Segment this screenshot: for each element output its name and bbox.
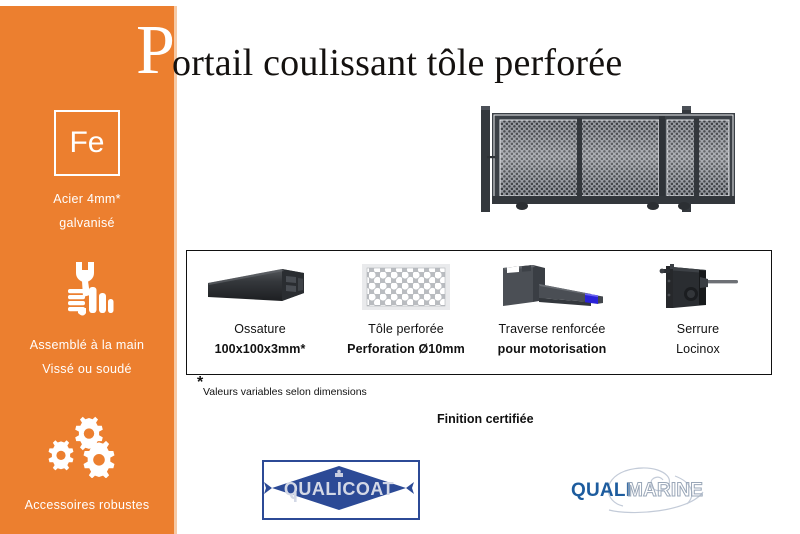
title-text: ortail coulissant tôle perforée (172, 40, 622, 86)
lock-icon (648, 257, 748, 317)
feature-item-lock-title: Serrure (677, 321, 719, 338)
steel-frame-profile-icon (204, 257, 316, 317)
feature-item-frame: Ossature 100x100x3mm* (187, 251, 333, 374)
sidebar-item-steel: Fe Acier 4mm* galvanisé (0, 110, 174, 236)
feature-item-sheet-spec: Perforation Ø10mm (347, 341, 465, 358)
footnote-text: Valeurs variables selon dimensions (203, 386, 367, 398)
qualimarine-wordmark-quali: QUALI (571, 480, 631, 501)
sidebar-item-handmade-line2: Vissé ou soudé (0, 358, 174, 382)
feature-item-frame-spec: 100x100x3mm* (215, 341, 306, 358)
features-panel: Ossature 100x100x3mm* (186, 250, 772, 375)
title-drop-cap: P (136, 20, 175, 82)
feature-item-crossbeam-spec: pour motorisation (498, 341, 607, 358)
sidebar-item-accessories: Accessoires robustes (0, 412, 174, 518)
qualicoat-logo: QUALICOAT (262, 460, 420, 520)
sidebar-item-steel-line1: Acier 4mm* (0, 188, 174, 212)
qualimarine-wordmark-marine: MARINE (627, 480, 703, 501)
qualimarine-logo: QUALI MARINE (565, 462, 715, 514)
certification-heading: Finition certifiée (437, 412, 534, 426)
sidebar-item-accessories-line1: Accessoires robustes (0, 494, 174, 518)
sidebar-item-handmade: Assemblé à la main Vissé ou soudé (0, 258, 174, 382)
feature-item-frame-title: Ossature (234, 321, 286, 338)
feature-item-crossbeam-title: Traverse renforcée (499, 321, 606, 338)
sidebar-item-steel-line2: galvanisé (0, 212, 174, 236)
feature-item-sheet: Tôle perforée Perforation Ø10mm (333, 251, 479, 374)
feature-item-lock-spec: Locinox (676, 341, 720, 358)
feature-item-lock: Serrure Locinox (625, 251, 771, 374)
sidebar-item-handmade-line1: Assemblé à la main (0, 334, 174, 358)
feature-item-crossbeam: Traverse renforcée pour motorisation (479, 251, 625, 374)
poster-root: Fe Acier 4mm* galvanisé (0, 0, 800, 534)
feature-item-sheet-title: Tôle perforée (368, 321, 444, 338)
fe-symbol-label: Fe (69, 128, 104, 158)
perforated-sheet-sample-icon (358, 257, 454, 317)
fe-element-box-icon: Fe (54, 110, 120, 176)
sliding-gate-perforated-illustration (478, 100, 740, 222)
gears-icon (0, 412, 174, 478)
page-title: P ortail coulissant tôle perforée (0, 22, 800, 84)
reinforced-crossbeam-icon (493, 257, 611, 317)
qualicoat-wordmark: QUALICOAT (284, 479, 394, 499)
hand-holding-wrench-icon (0, 258, 174, 320)
